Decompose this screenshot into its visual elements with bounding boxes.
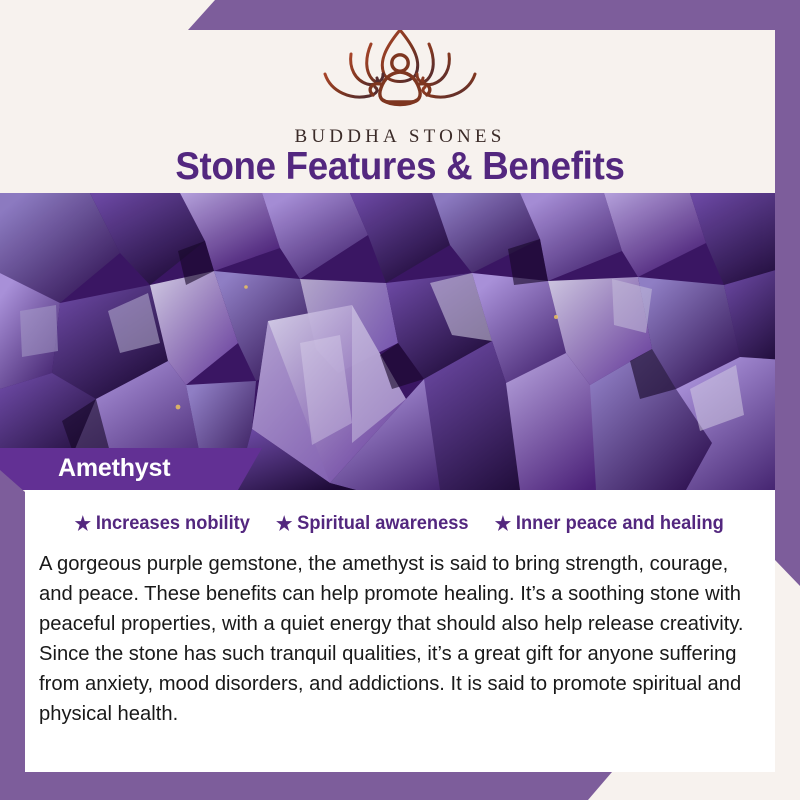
- brand-logo: BUDDHA STONES: [0, 22, 800, 148]
- feature-list: ★ Increases nobility ★ Spiritual awarene…: [25, 490, 775, 535]
- stone-name-label: Amethyst: [58, 454, 170, 483]
- feature-item-spiritual-awareness: ★ Spiritual awareness: [276, 513, 468, 535]
- star-icon: ★: [75, 515, 91, 534]
- star-icon: ★: [495, 515, 511, 534]
- page-title: Stone Features & Benefits: [24, 145, 776, 189]
- content-panel: ★ Increases nobility ★ Spiritual awarene…: [25, 490, 775, 772]
- feature-label: Spiritual awareness: [297, 513, 468, 535]
- frame-border-bottom: [0, 772, 800, 800]
- amethyst-crystal-cluster-photo: [0, 193, 800, 490]
- feature-label: Inner peace and healing: [516, 513, 724, 535]
- feature-item-inner-peace-and-healing: ★ Inner peace and healing: [495, 513, 724, 535]
- star-icon: ★: [276, 515, 292, 534]
- lotus-meditation-icon: [305, 22, 495, 122]
- feature-item-increases-nobility: ★ Increases nobility: [75, 513, 250, 535]
- frame-border-left: [0, 470, 25, 800]
- hero-image: Amethyst: [0, 193, 800, 490]
- stone-description: A gorgeous purple gemstone, the amethyst…: [39, 549, 748, 729]
- poster: BUDDHA STONES Stone Features & Benefits: [0, 0, 800, 800]
- frame-border-right: [775, 0, 800, 586]
- feature-label: Increases nobility: [96, 513, 250, 535]
- stone-name-banner: Amethyst: [0, 448, 262, 490]
